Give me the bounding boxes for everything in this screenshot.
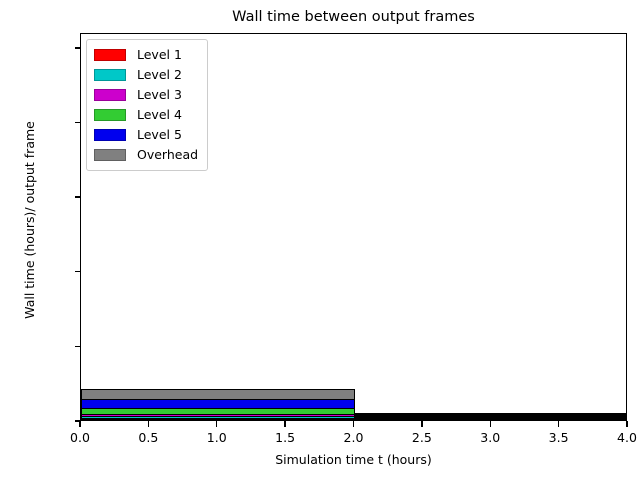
y-tick-mark [75,47,81,48]
legend-label: Level 3 [137,88,182,102]
x-tick-label: 2.0 [324,429,384,446]
x-tick-mark [353,421,354,427]
x-tick-label: 4.0 [597,429,640,446]
y-tick-mark [75,346,81,347]
x-tick-mark [626,421,627,427]
legend-swatch-icon [94,49,126,61]
legend-swatch-icon [94,109,126,121]
y-tick-mark [75,271,81,272]
x-axis-label: Simulation time t (hours) [80,452,627,468]
x-tick-mark [216,421,217,427]
x-tick-mark [490,421,491,427]
bar-segment-level-5[interactable] [81,399,355,408]
bar-stack[interactable] [355,415,627,420]
legend-swatch-icon [94,129,126,141]
legend-item-level-1[interactable]: Level 1 [94,45,198,65]
x-tick-label: 2.5 [392,429,452,446]
legend-label: Level 5 [137,128,182,142]
x-tick-mark [148,421,149,427]
chart-title: Wall time between output frames [80,8,627,26]
x-tick-label: 1.5 [255,429,315,446]
legend-swatch-icon [94,69,126,81]
legend-label: Level 1 [137,48,182,62]
legend-swatch-icon [94,149,126,161]
legend-label: Overhead [137,148,198,162]
y-axis-label: Wall time (hours)/ output frame [22,25,38,415]
legend-swatch-icon [94,89,126,101]
y-tick-mark [75,122,81,123]
legend-label: Level 4 [137,108,182,122]
x-tick-label: 0.0 [50,429,110,446]
x-tick-mark [284,421,285,427]
bar-segment-level-1[interactable] [81,418,355,420]
x-tick-label: 3.0 [460,429,520,446]
chart-legend: Level 1Level 2Level 3Level 4Level 5Overh… [86,39,208,171]
bar-segment-overhead[interactable] [81,389,355,399]
x-tick-label: 3.5 [529,429,589,446]
bar-segment-level-4[interactable] [81,408,355,415]
figure-canvas: Wall time between output frames 0.000.05… [0,0,640,480]
x-tick-label: 1.0 [187,429,247,446]
x-tick-mark [421,421,422,427]
bar-stack[interactable] [81,389,355,420]
y-tick-mark [75,196,81,197]
x-tick-label: 0.5 [118,429,178,446]
x-tick-mark [558,421,559,427]
legend-item-overhead[interactable]: Overhead [94,145,198,165]
legend-item-level-4[interactable]: Level 4 [94,105,198,125]
legend-item-level-2[interactable]: Level 2 [94,65,198,85]
legend-item-level-5[interactable]: Level 5 [94,125,198,145]
legend-label: Level 2 [137,68,182,82]
x-tick-mark [79,421,80,427]
bar-segment-level-1[interactable] [355,418,627,420]
legend-item-level-3[interactable]: Level 3 [94,85,198,105]
